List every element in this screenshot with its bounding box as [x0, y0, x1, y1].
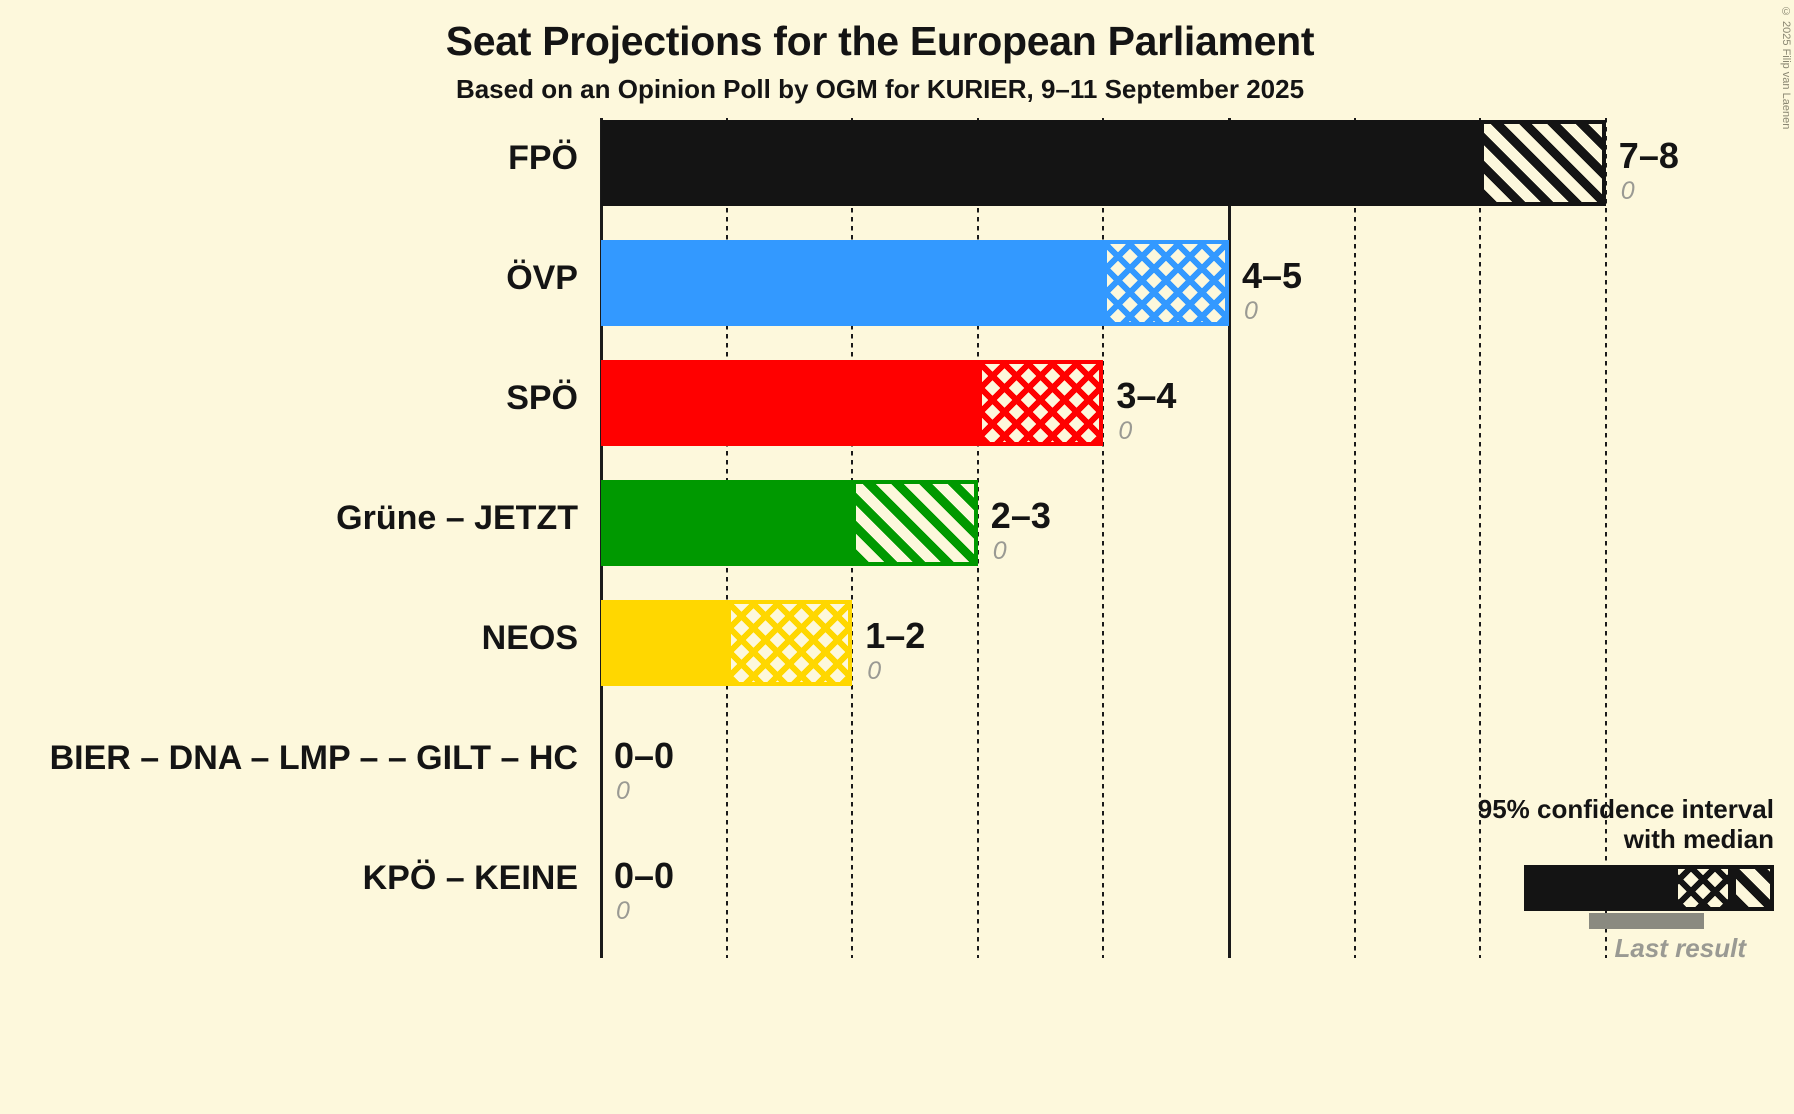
- copyright-notice: © 2025 Filip van Laenen: [1780, 6, 1792, 129]
- legend-caption: 95% confidence interval with median: [1414, 795, 1774, 855]
- bar-median-segment: [601, 360, 978, 446]
- last-result-value: 0: [1621, 177, 1635, 206]
- last-result-value: 0: [867, 657, 881, 686]
- legend-caption-line2: with median: [1414, 825, 1774, 855]
- bar-confidence-segment: [727, 600, 853, 686]
- bar-container: [601, 360, 1103, 446]
- seat-range-value: 3–4: [1116, 375, 1176, 417]
- legend-sample-bar: [1524, 865, 1774, 911]
- seat-range-value: 0–0: [614, 735, 674, 777]
- chart-subtitle: Based on an Opinion Poll by OGM for KURI…: [0, 74, 1760, 105]
- bar-median-segment: [601, 480, 852, 566]
- party-label: FPÖ: [0, 139, 578, 178]
- bar-confidence-segment: [852, 480, 978, 566]
- legend-last-result-bar: [1589, 913, 1704, 929]
- bar-row: ÖVP4–50: [0, 240, 1794, 326]
- bar-row: NEOS1–20: [0, 600, 1794, 686]
- party-label: ÖVP: [0, 259, 578, 298]
- bar-median-segment: [601, 240, 1103, 326]
- legend-diagonal-segment: [1732, 865, 1774, 911]
- party-label: Grüne – JETZT: [0, 499, 578, 538]
- bar-confidence-segment: [1480, 120, 1606, 206]
- seat-range-value: 0–0: [614, 855, 674, 897]
- seat-projection-chart: Seat Projections for the European Parlia…: [0, 0, 1794, 1114]
- legend-crosshatch-segment: [1674, 865, 1732, 911]
- seat-range-value: 2–3: [991, 495, 1051, 537]
- bar-median-segment: [601, 120, 1480, 206]
- last-result-value: 0: [993, 537, 1007, 566]
- seat-range-value: 1–2: [865, 615, 925, 657]
- bar-confidence-segment: [1103, 240, 1229, 326]
- last-result-value: 0: [1244, 297, 1258, 326]
- bar-container: [601, 600, 852, 686]
- legend-median-segment: [1524, 865, 1674, 911]
- legend-last-result-label: Last result: [1414, 933, 1774, 964]
- party-label: NEOS: [0, 619, 578, 658]
- bar-confidence-segment: [978, 360, 1104, 446]
- seat-range-value: 7–8: [1619, 135, 1679, 177]
- bar-container: [601, 240, 1229, 326]
- last-result-value: 0: [616, 897, 630, 926]
- bar-row: Grüne – JETZT2–30: [0, 480, 1794, 566]
- chart-title: Seat Projections for the European Parlia…: [0, 18, 1760, 65]
- bar-row: FPÖ7–80: [0, 120, 1794, 206]
- last-result-value: 0: [616, 777, 630, 806]
- bar-row: SPÖ3–40: [0, 360, 1794, 446]
- legend-caption-line1: 95% confidence interval: [1414, 795, 1774, 825]
- bar-container: [601, 120, 1606, 206]
- party-label: BIER – DNA – LMP – – GILT – HC: [0, 739, 578, 778]
- party-label: KPÖ – KEINE: [0, 859, 578, 898]
- bar-container: [601, 480, 978, 566]
- chart-legend: 95% confidence interval with median Last…: [1414, 795, 1774, 964]
- bar-median-segment: [601, 600, 727, 686]
- last-result-value: 0: [1118, 417, 1132, 446]
- party-label: SPÖ: [0, 379, 578, 418]
- seat-range-value: 4–5: [1242, 255, 1302, 297]
